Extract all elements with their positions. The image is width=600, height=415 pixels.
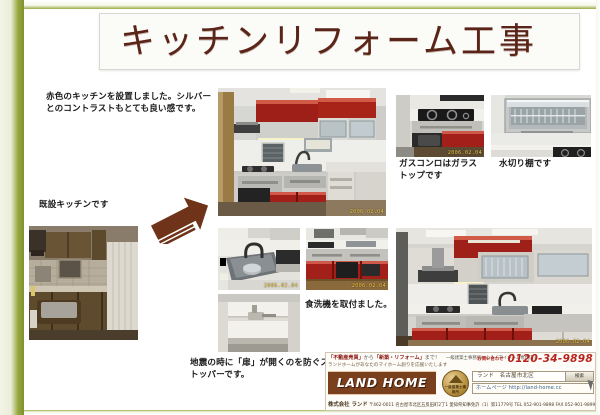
caption-stopper: 地震の時に「扉」が開くのを防ぐストッパーです。: [190, 358, 330, 381]
photo-timestamp: 2006.02.04: [448, 150, 482, 156]
ad-license: 愛知県知事免許（1）第11779号: [449, 403, 513, 408]
ad-logo-text: LAND HOME: [328, 372, 436, 394]
homepage-url-label: ホームページ http://land-home.cc: [476, 384, 562, 393]
page-title: キッチンリフォーム工事: [120, 17, 570, 67]
ad-headline-gray-1: から: [364, 355, 374, 361]
photo-cabinet: 2006.02.04: [306, 228, 388, 290]
before-after-arrow-icon: [150, 196, 218, 244]
photo-sink: 2006.02.04: [218, 228, 300, 290]
photo-before-kitchen: [29, 226, 138, 340]
ad-telephone: お問い合わせ 0120-34-9898: [477, 353, 593, 366]
search-input[interactable]: ランド 名古屋市北区 検索: [472, 371, 594, 382]
ad-company-info: 株式会社 ランド 〒462-0011 名古屋市北区五反田町2丁1 愛知県知事免許…: [328, 401, 596, 409]
seal-roof-icon: [449, 375, 463, 383]
homepage-url-field[interactable]: ホームページ http://land-home.cc: [472, 383, 594, 394]
slide-border-right: [596, 0, 600, 415]
photo-drain-rack: [491, 95, 591, 157]
photo-after-main: 2006.02.04: [218, 88, 386, 216]
slide-canvas: キッチンリフォーム工事 赤色のキッチンを設置しました。シルバーとのコントラストも…: [0, 0, 600, 415]
photo-stopper: [218, 294, 300, 352]
slide-border-top: [24, 0, 600, 9]
search-query-text: ランド 名古屋市北区: [477, 372, 534, 381]
slide-border-left: [0, 0, 24, 415]
advertisement-banner: 「不動産売買」から「新築・リフォーム」まで！一級建築士事務所による『マイホーム専…: [325, 352, 596, 411]
photo-cooktop: 2006.02.04: [396, 95, 484, 157]
ad-seal-badge-icon: 一級建築士事務所: [442, 370, 469, 397]
ad-tel-number: 0120-34-9898: [508, 353, 593, 365]
photo-timestamp: 2006.02.04: [350, 209, 384, 215]
caption-before-label: 既設キッチンです: [39, 200, 159, 212]
ad-headline-red-2: 「新築・リフォーム」: [374, 355, 425, 361]
ad-tel-prefix: お問い合わせ: [477, 357, 503, 362]
ad-logo: LAND HOME: [328, 371, 436, 395]
ad-address: 名古屋市北区五反田町2丁1: [395, 403, 448, 408]
photo-timestamp: 2006.02.04: [352, 283, 386, 289]
ad-headline-gray-2: まで！: [425, 355, 440, 361]
photo-timestamp: 2006.02.04: [556, 339, 590, 345]
ad-tel-line: TEL 052-901-9898: [515, 403, 555, 408]
ad-headline-red-1: 「不動産売買」: [328, 355, 364, 361]
photo-timestamp: 2006.02.04: [264, 283, 298, 289]
caption-drain-rack: 水切り棚です: [499, 159, 575, 171]
ad-company-name: 株式会社 ランド: [328, 402, 368, 408]
ad-seal-text: 一級建築士事務所: [443, 384, 468, 394]
caption-cooktop: ガスコンロはガラストップです: [399, 159, 481, 182]
ad-postal: 〒462-0011: [369, 403, 394, 408]
ad-fax-line: FAX 052-901-9899: [555, 403, 595, 408]
photo-after-wide: 2006.02.04: [396, 228, 592, 346]
caption-dishwasher: 食洗機を取付ました。: [305, 300, 395, 312]
caption-main-note: 赤色のキッチンを設置しました。シルバーとのコントラストもとても良い感です。: [46, 92, 214, 115]
